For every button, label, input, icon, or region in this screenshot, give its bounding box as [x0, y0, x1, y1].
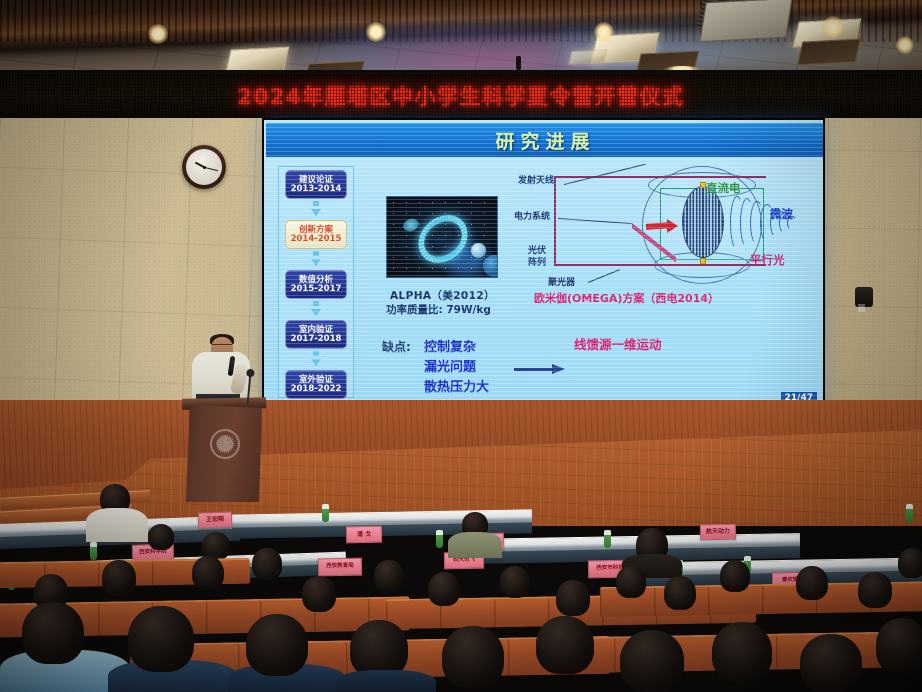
- water-bottle: [436, 530, 443, 548]
- ceiling-light-panel: [568, 49, 608, 65]
- audience-head: [556, 580, 590, 616]
- timeline-arrow-icon: [311, 309, 321, 317]
- audience-head: [664, 576, 696, 610]
- diagram-caption: 欧米伽(OMEGA)方案（西电2014）: [534, 290, 719, 306]
- ceiling-downlight: [366, 22, 386, 42]
- audience-head: [858, 572, 892, 608]
- timeline-box-3: 室内验证 2017-2018: [285, 320, 347, 349]
- audience-head: [102, 560, 136, 596]
- label-parallel-light: 平行光: [750, 254, 785, 267]
- project-timeline: 建议论证 2013-2014 创新方案 2014-2015 数值分析 201: [278, 166, 354, 398]
- auditorium-scene: 2024年雁塔区中小学生科学夏令营开营仪式 研究进展 建议论证 2013-201…: [0, 0, 922, 692]
- audience-head-front: [876, 618, 922, 674]
- water-bottle: [322, 504, 329, 522]
- label-concentrator: 聚光器: [548, 278, 575, 288]
- clock-minute-hand: [204, 167, 218, 172]
- audience-head-front: [800, 634, 862, 692]
- moonlet-shape: [471, 243, 486, 258]
- diagram-frame-bottom: [554, 264, 766, 266]
- projection-screen: 研究进展 建议论证 2013-2014 创新方案 2014-2015: [262, 118, 825, 410]
- led-banner: 2024年雁塔区中小学生科学夏令营开营仪式: [0, 74, 922, 118]
- name-placard: 潘 戈: [346, 526, 382, 544]
- audience-shoulders: [336, 670, 436, 692]
- name-placard: 西安教育局: [318, 558, 362, 577]
- timeline-box-2-years: 2015-2017: [291, 285, 342, 294]
- audience-head-front: [620, 630, 684, 692]
- presentation-slide: 研究进展 建议论证 2013-2014 创新方案 2014-2015: [264, 120, 823, 408]
- audience-head: [302, 576, 336, 612]
- conclusion-item-2: 散热压力大: [424, 376, 489, 395]
- ceiling-sensor: [516, 56, 521, 70]
- water-bottle: [90, 542, 97, 560]
- power-arrow-icon: [642, 218, 678, 234]
- timeline-box-4-years: 2018-2022: [291, 385, 342, 394]
- timeline-box-3-years: 2017-2018: [291, 335, 342, 344]
- label-power-system: 电力系统: [514, 212, 550, 222]
- audience-head: [148, 524, 174, 550]
- leader-line: [588, 269, 620, 283]
- ceiling-downlight: [822, 16, 844, 38]
- timeline-step: 室内验证 2017-2018: [285, 320, 347, 370]
- diagram-frame-left: [554, 176, 556, 264]
- metric-value: 79W/kg: [446, 304, 491, 316]
- timeline-arrow-icon: [311, 209, 321, 217]
- pv-array-panel: [682, 186, 724, 258]
- conclusion-arrow-icon: [514, 364, 566, 374]
- audience-head-front: [442, 626, 504, 688]
- name-placard: 王宏翔: [198, 511, 233, 528]
- leader-line: [558, 218, 632, 224]
- clock-face: [186, 149, 222, 185]
- ceiling-ac-unit: [699, 0, 792, 42]
- microwave-beam: [728, 192, 804, 254]
- audience-head: [428, 572, 460, 606]
- timeline-step: 室外验证 2018-2022: [285, 370, 347, 399]
- audience-head: [720, 560, 750, 592]
- audience-head: [374, 560, 404, 592]
- slide-title-bar: 研究进展: [266, 123, 823, 157]
- audience-head: [616, 566, 646, 598]
- audience-shoulders: [448, 532, 502, 558]
- diagram-node-bottom: [700, 258, 706, 264]
- timeline-step: 建议论证 2013-2014: [285, 170, 347, 220]
- conclusion-label: 缺点:: [382, 338, 411, 355]
- audience-head-front: [536, 616, 594, 674]
- timeline-arrow-icon: [311, 359, 321, 367]
- label-transmit-antenna: 发射天线: [518, 176, 554, 186]
- audience-head: [192, 556, 224, 590]
- audience-head: [252, 548, 282, 580]
- conclusion-item-1: 漏光问题: [424, 356, 476, 375]
- timeline-box-1-years: 2014-2015: [291, 235, 342, 244]
- water-bottle: [604, 530, 611, 548]
- photo-caption-metric: 功率质量比: 79W/kg: [386, 302, 491, 317]
- leader-line: [564, 164, 646, 185]
- clock-center: [203, 166, 206, 169]
- omega-system-diagram: 发射天线 电力系统 光伏 阵列 聚光器 直流电 微波 平行光: [514, 162, 814, 290]
- banner-text: 2024年雁塔区中小学生科学夏令营开营仪式: [238, 81, 685, 111]
- timeline-arrow-icon: [311, 259, 321, 267]
- ceiling-light-panel: [797, 38, 861, 65]
- label-dc-power: 直流电: [706, 182, 741, 195]
- presenter-glasses: [212, 344, 232, 348]
- timeline-step: 数值分析 2015-2017: [285, 270, 347, 320]
- timeline-box-2: 数值分析 2015-2017: [285, 270, 347, 299]
- university-emblem-icon: [210, 429, 240, 459]
- audience-head: [898, 548, 922, 578]
- name-placard: 航天动力: [700, 524, 736, 541]
- audience-head: [500, 566, 530, 598]
- wooden-podium: [186, 405, 262, 502]
- audience-head-front: [246, 614, 308, 676]
- conclusion-item-0: 控制复杂: [424, 336, 476, 355]
- timeline-box-0-years: 2013-2014: [291, 185, 342, 194]
- label-pv: 光伏: [528, 246, 546, 256]
- water-bottle: [906, 504, 913, 522]
- audience-head: [796, 566, 828, 600]
- ceiling-downlight: [896, 36, 914, 54]
- label-microwave: 微波: [770, 208, 793, 221]
- audience-head-front: [128, 606, 194, 672]
- metric-label: 功率质量比: [386, 304, 439, 316]
- slide-title: 研究进展: [495, 127, 595, 154]
- ceiling-downlight: [594, 22, 614, 42]
- satellite-concept-image: [386, 196, 498, 278]
- earth-shape: [483, 255, 498, 277]
- ceiling-downlight: [148, 24, 168, 44]
- timeline-step: 创新方案 2014-2015: [285, 220, 347, 270]
- wall-clock: [182, 145, 226, 189]
- photo-caption-title: ALPHA（美2012）: [390, 288, 495, 303]
- seated-person-shoulders: [86, 508, 148, 542]
- timeline-box-4: 室外验证 2018-2022: [285, 370, 347, 399]
- conclusion-result: 线馈源一维运动: [574, 334, 662, 353]
- audience-head-front: [712, 622, 772, 682]
- timeline-box-0: 建议论证 2013-2014: [285, 170, 347, 199]
- label-array: 阵列: [528, 258, 546, 268]
- timeline-box-1: 创新方案 2014-2015: [285, 220, 347, 249]
- wall-mounted-speaker: [855, 287, 873, 307]
- audience-head-front: [22, 602, 84, 664]
